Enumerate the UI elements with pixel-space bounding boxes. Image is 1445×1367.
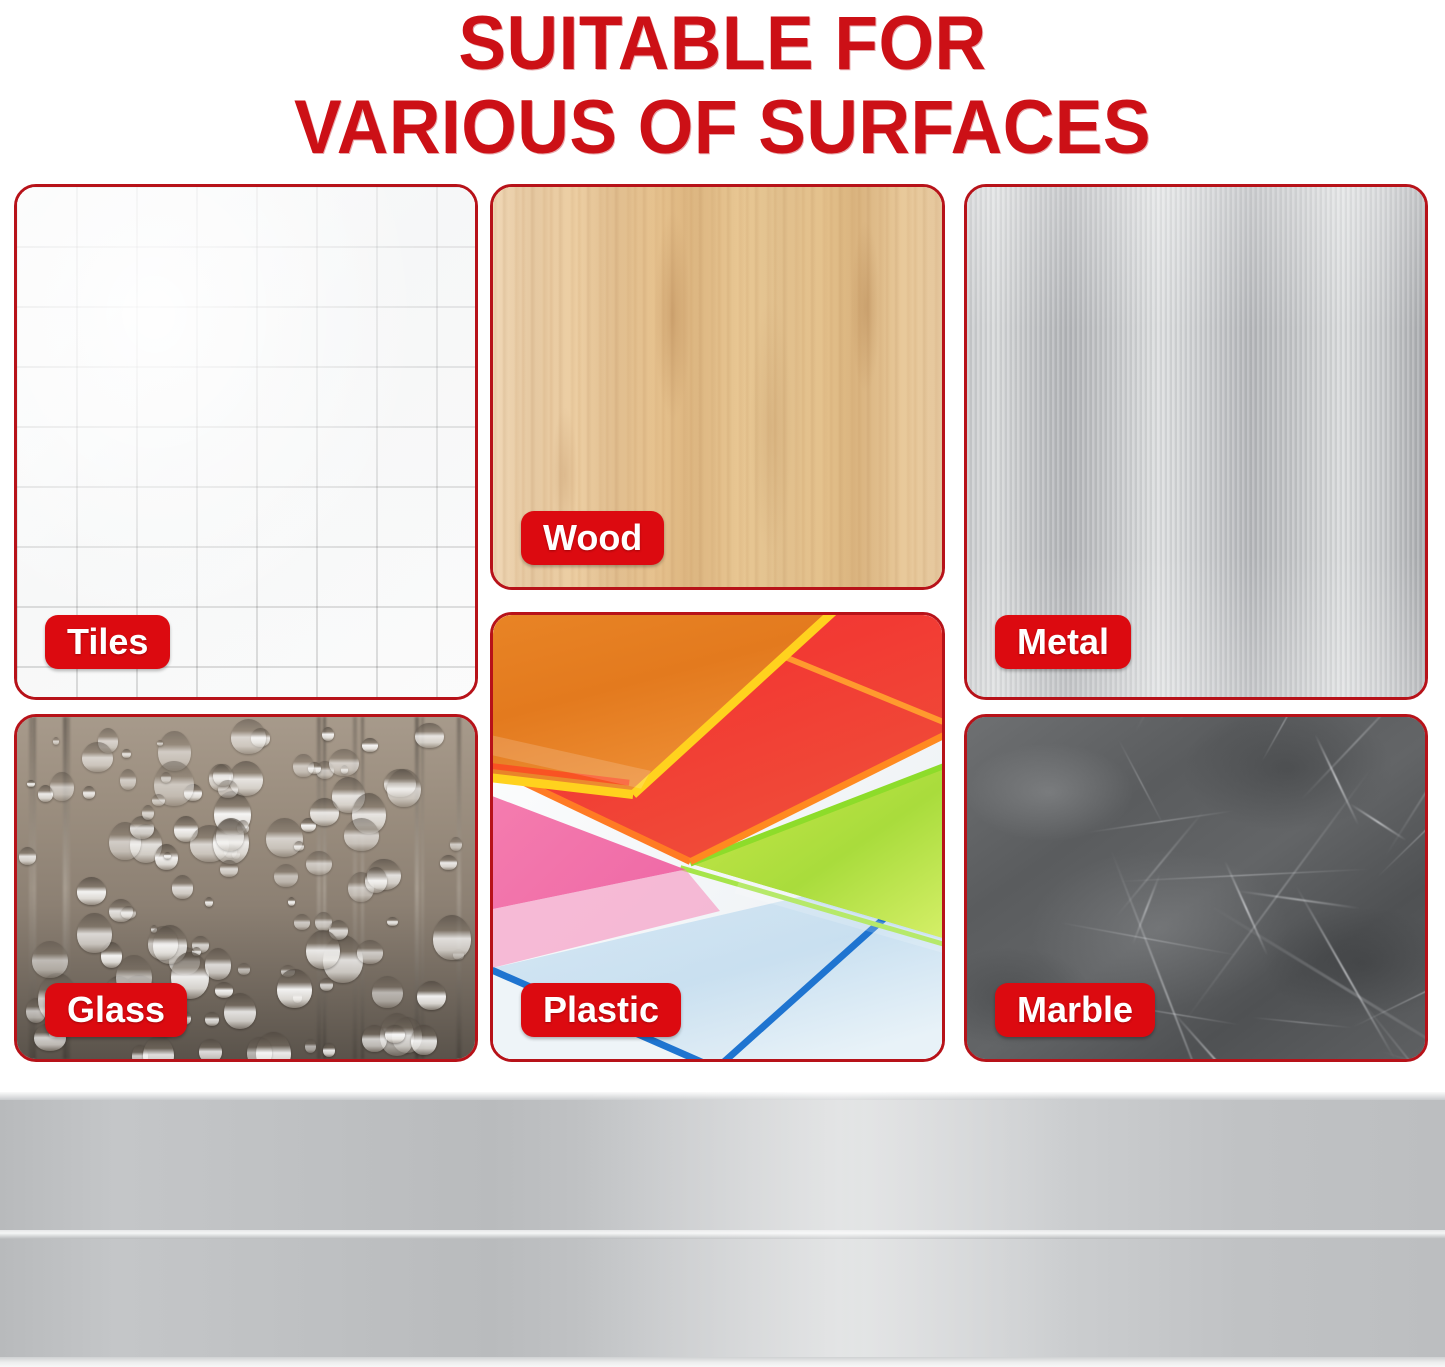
water-droplet <box>152 794 165 806</box>
water-droplet <box>82 742 112 772</box>
water-droplet <box>122 749 130 758</box>
water-droplet <box>164 852 171 859</box>
water-droplet <box>417 981 446 1010</box>
glass-streak <box>457 717 461 1059</box>
page-title: SUITABLE FOR VARIOUS OF SURFACES <box>43 0 1401 175</box>
surface-card-glass: Glass <box>14 714 478 1062</box>
water-droplet <box>224 993 256 1029</box>
water-droplet <box>323 1043 335 1058</box>
water-droplet <box>385 1025 405 1044</box>
water-droplet <box>199 1039 222 1062</box>
wall-panel-top-edge <box>0 1092 1445 1100</box>
water-droplet <box>216 819 244 850</box>
water-droplet <box>387 917 398 927</box>
water-droplet <box>27 780 35 787</box>
water-droplet <box>372 976 403 1008</box>
water-droplet <box>205 897 213 907</box>
water-droplet <box>215 982 233 998</box>
water-droplet <box>238 963 250 975</box>
water-droplet <box>83 786 95 800</box>
water-droplet <box>433 915 471 959</box>
water-droplet <box>121 906 136 919</box>
water-droplet <box>77 913 111 953</box>
water-droplet <box>19 847 37 864</box>
water-droplet <box>142 805 154 820</box>
water-droplet <box>53 737 59 745</box>
glass-streak <box>415 717 419 1059</box>
surface-label-metal: Metal <box>995 615 1131 669</box>
water-droplet <box>148 926 178 960</box>
water-droplet <box>220 860 237 877</box>
water-droplet <box>293 754 313 778</box>
water-droplet <box>415 723 443 748</box>
water-droplet <box>306 851 331 876</box>
water-droplet <box>450 837 462 851</box>
water-droplet <box>320 978 333 991</box>
water-droplet <box>344 818 380 851</box>
surface-label-tiles: Tiles <box>45 615 170 669</box>
water-droplet <box>294 914 311 931</box>
water-droplet <box>50 772 73 801</box>
surface-card-tiles: Tiles <box>14 184 478 700</box>
water-droplet <box>387 769 421 807</box>
water-droplet <box>277 969 312 1009</box>
bottom-wall-panel <box>0 1092 1445 1367</box>
water-droplet <box>357 940 384 964</box>
water-droplet <box>161 772 171 783</box>
water-droplet <box>266 818 303 857</box>
water-droplet <box>294 841 304 850</box>
surface-label-wood: Wood <box>521 511 664 565</box>
water-droplet <box>38 785 53 802</box>
water-droplet <box>362 738 378 752</box>
water-droplet <box>329 749 359 776</box>
water-droplet <box>205 1012 219 1027</box>
water-droplet <box>411 1025 436 1056</box>
water-droplet <box>130 816 155 839</box>
water-droplet <box>231 719 267 754</box>
page-title-line-2: VARIOUS OF SURFACES <box>43 86 1401 170</box>
wall-panel-bottom-edge <box>0 1357 1445 1367</box>
water-droplet <box>365 867 388 893</box>
surface-card-plastic: Plastic <box>490 612 945 1062</box>
water-droplet <box>274 864 298 887</box>
water-droplet <box>440 855 457 870</box>
water-droplet <box>205 948 232 980</box>
surface-label-glass: Glass <box>45 983 187 1037</box>
surface-label-plastic: Plastic <box>521 983 681 1037</box>
water-droplet <box>77 877 106 904</box>
page-title-line-1: SUITABLE FOR <box>43 2 1401 86</box>
water-droplet <box>172 875 194 899</box>
water-droplet <box>218 780 237 798</box>
surface-label-marble: Marble <box>995 983 1155 1037</box>
wall-panel-groove <box>0 1230 1445 1239</box>
surface-card-metal: Metal <box>964 184 1428 700</box>
water-droplet <box>362 1025 387 1052</box>
surface-card-marble: Marble <box>964 714 1428 1062</box>
surface-card-wood: Wood <box>490 184 945 590</box>
water-droplet <box>306 930 340 969</box>
